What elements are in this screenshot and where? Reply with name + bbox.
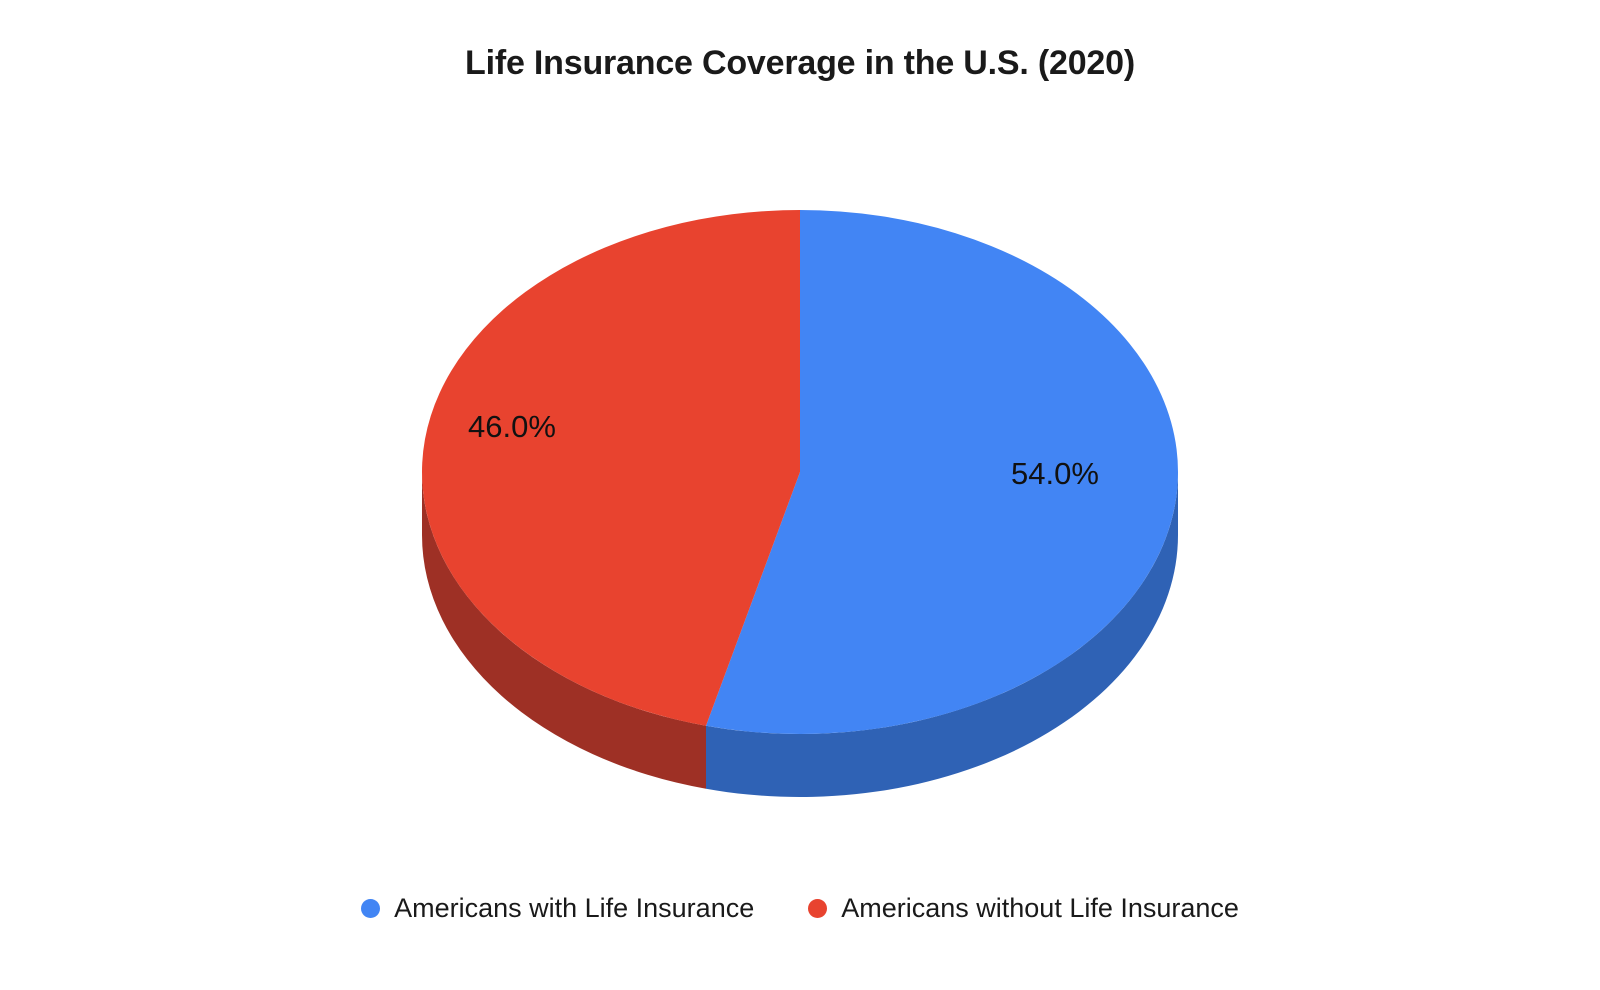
pie-slice-label-with-life-insurance: 54.0% bbox=[1011, 456, 1099, 491]
legend-label-without-life-insurance: Americans without Life Insurance bbox=[841, 895, 1239, 922]
legend-swatch-icon-without-life-insurance bbox=[808, 899, 827, 918]
legend-label-with-life-insurance: Americans with Life Insurance bbox=[394, 895, 754, 922]
legend-item-without-life-insurance[interactable]: Americans without Life Insurance bbox=[808, 895, 1239, 922]
chart-title: Life Insurance Coverage in the U.S. (202… bbox=[0, 44, 1600, 83]
chart-legend: Americans with Life Insurance Americans … bbox=[0, 880, 1600, 936]
legend-item-with-life-insurance[interactable]: Americans with Life Insurance bbox=[361, 895, 754, 922]
pie-svg: 54.0% 46.0% bbox=[0, 110, 1600, 840]
legend-swatch-icon-with-life-insurance bbox=[361, 899, 380, 918]
pie-slice-label-without-life-insurance: 46.0% bbox=[468, 409, 556, 444]
pie-chart: Life Insurance Coverage in the U.S. (202… bbox=[0, 0, 1600, 990]
plot-area: 54.0% 46.0% bbox=[0, 110, 1600, 840]
